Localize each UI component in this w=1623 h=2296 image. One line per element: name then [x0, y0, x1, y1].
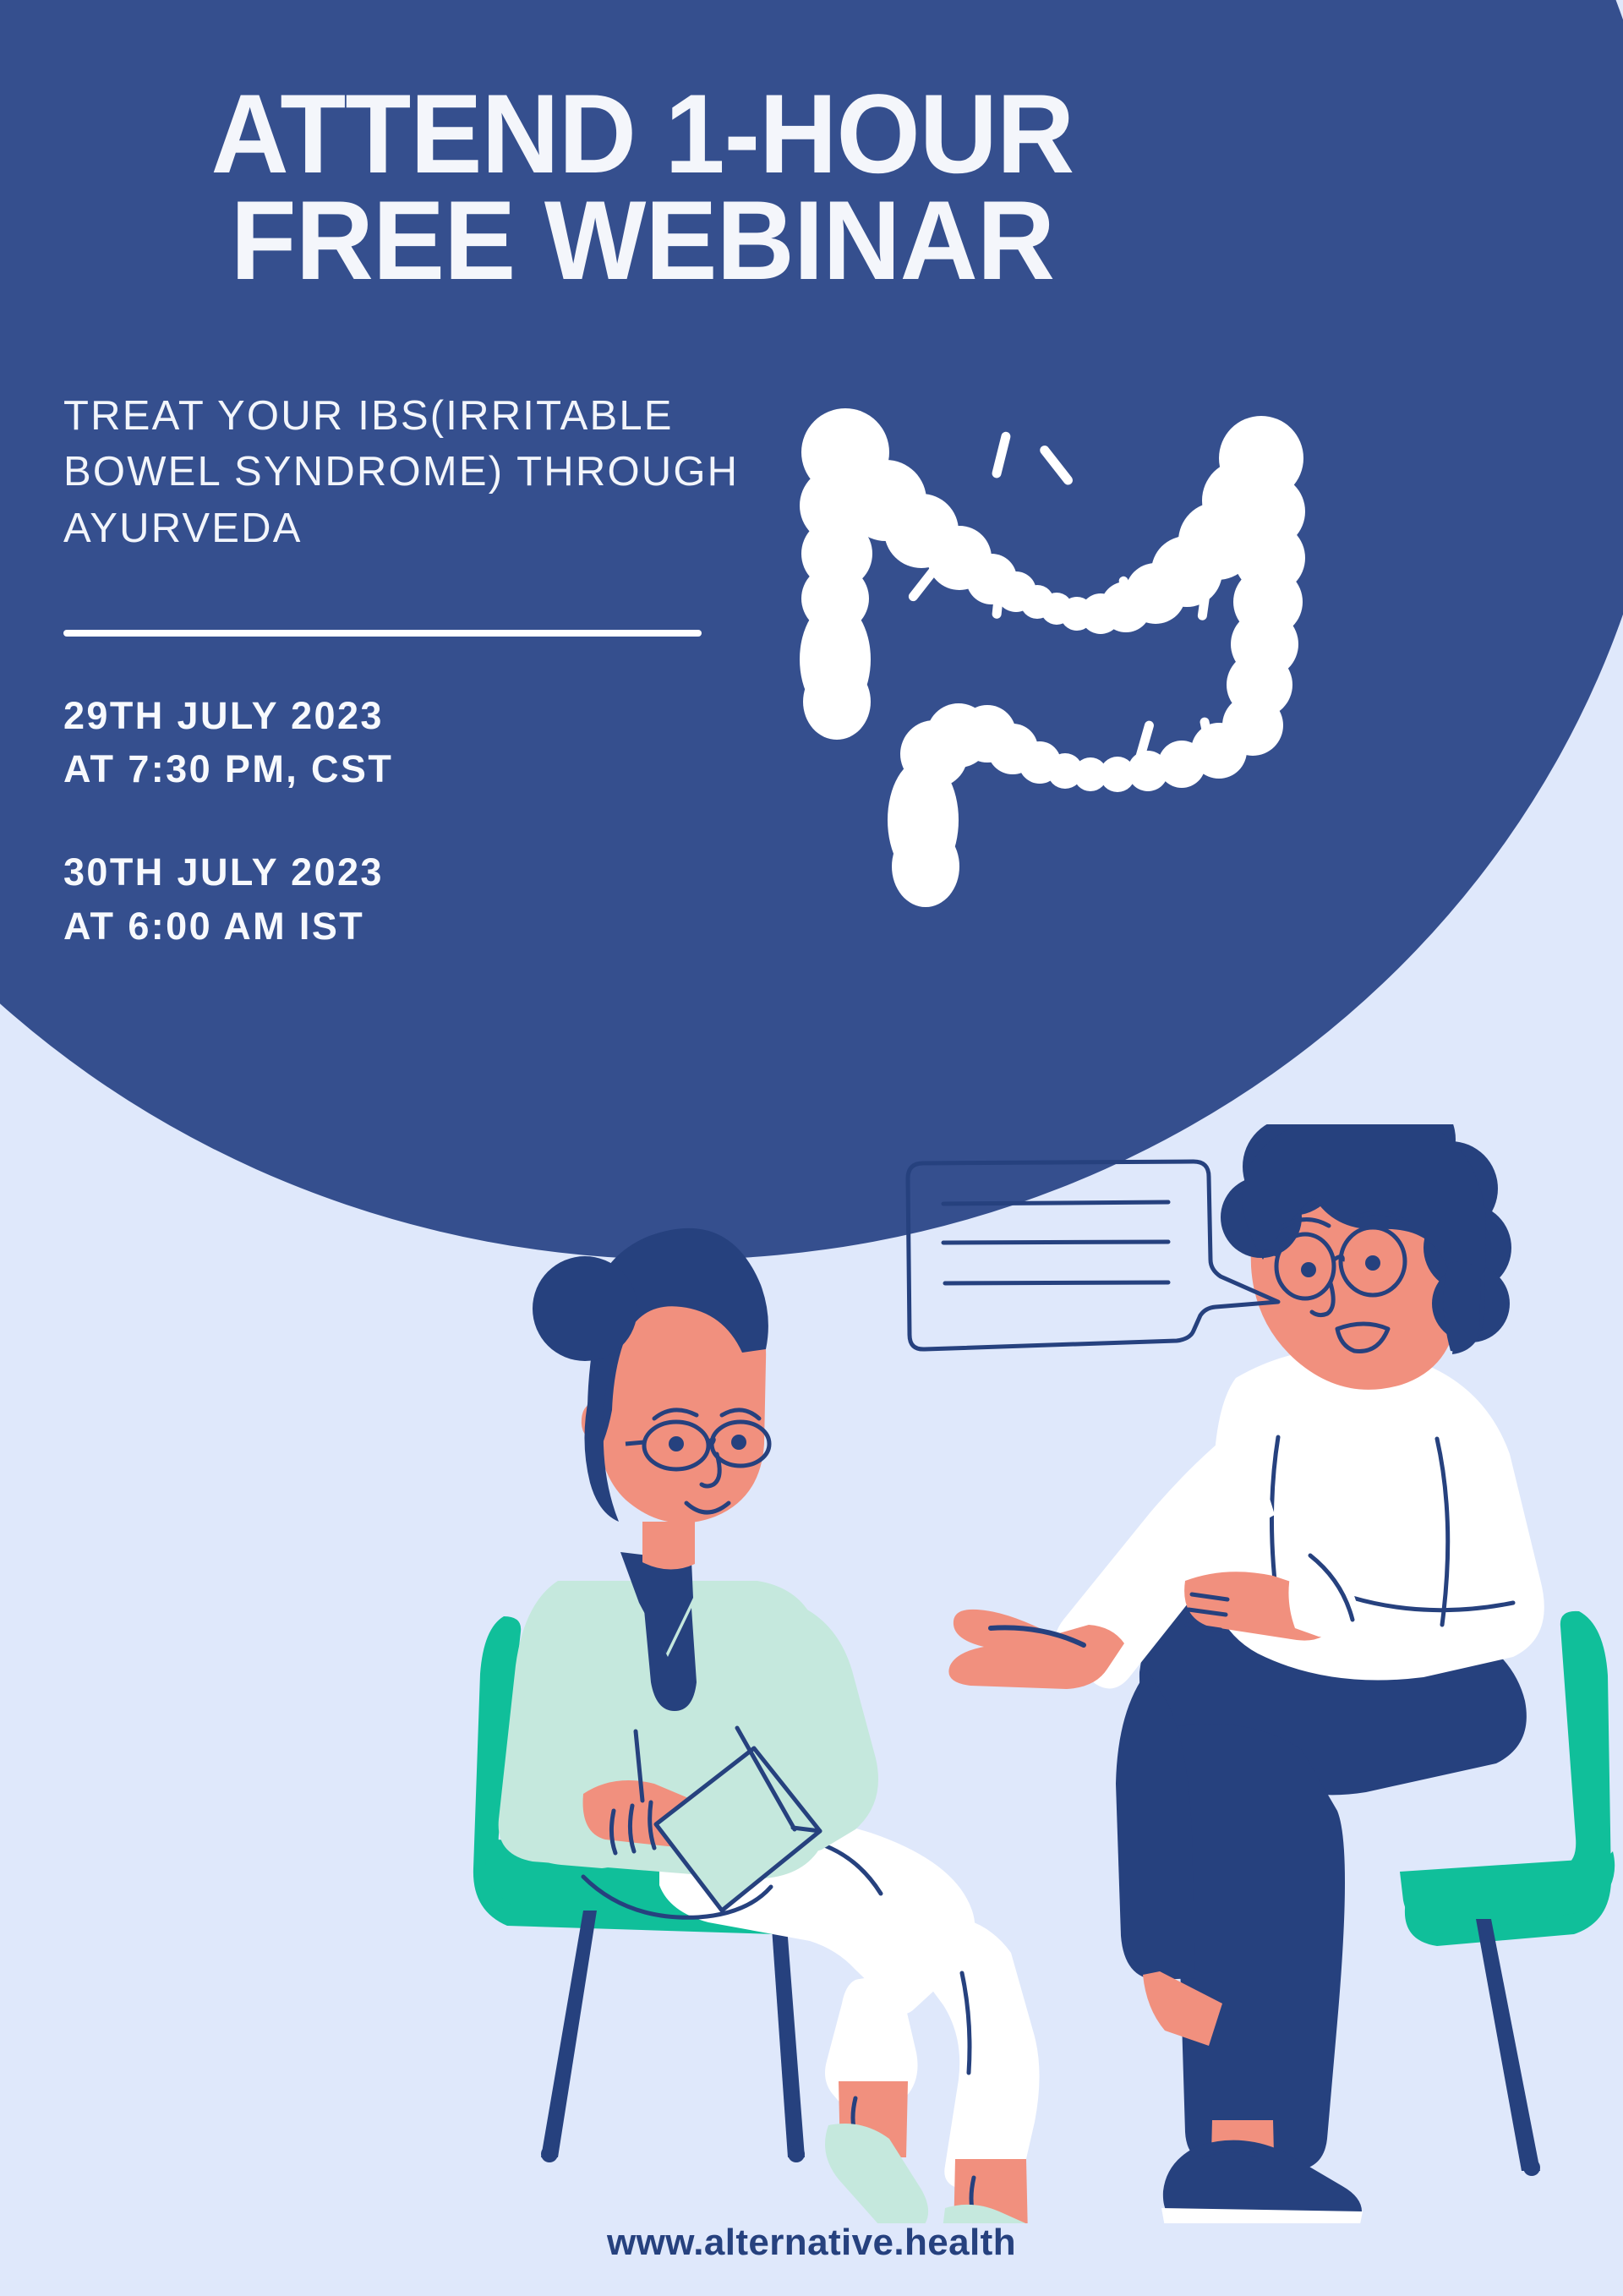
doctor-shin-right [909, 1915, 1040, 2196]
schedule-entry: 30TH JULY 2023 AT 6:00 AM IST [63, 845, 1319, 954]
patient-eye-right [1365, 1255, 1380, 1271]
title-line-2: FREE WEBINAR [231, 178, 1054, 303]
chair-foot [541, 2146, 558, 2162]
divider-rule [63, 630, 702, 637]
schedule-list: 29TH JULY 2023 AT 7:30 PM, CST 30TH JULY… [63, 637, 1319, 954]
doctor-hair-bun [533, 1256, 637, 1361]
schedule-date: 29TH JULY 2023 [63, 689, 1319, 743]
doctor-eye-left [669, 1436, 684, 1451]
doctor-eye-right [731, 1435, 746, 1450]
header-block: ATTEND 1-HOUR FREE WEBINAR TREAT YOUR IB… [0, 0, 1319, 954]
page-title: ATTEND 1-HOUR FREE WEBINAR [89, 81, 1294, 295]
bubble-text-lines [943, 1202, 1168, 1283]
consultation-scene [0, 1124, 1623, 2223]
website-url[interactable]: www.alternative.health [0, 2222, 1623, 2264]
subtitle-text: TREAT YOUR IBS(IRRITABLE BOWEL SYNDROME)… [63, 295, 790, 557]
patient-chair-leg [1476, 1919, 1540, 2171]
chair-foot [788, 2146, 805, 2162]
doctor-neck [642, 1522, 695, 1570]
doctor-shoe-left [825, 2124, 928, 2223]
schedule-time: AT 6:00 AM IST [63, 899, 1319, 954]
poster-canvas: ATTEND 1-HOUR FREE WEBINAR TREAT YOUR IB… [0, 0, 1623, 2296]
patient-chair-foot [1523, 2159, 1540, 2176]
schedule-entry: 29TH JULY 2023 AT 7:30 PM, CST [63, 689, 1319, 797]
schedule-date: 30TH JULY 2023 [63, 845, 1319, 899]
patient-eye-left [1301, 1262, 1316, 1277]
chair-leg-back [771, 1916, 805, 2157]
schedule-time: AT 7:30 PM, CST [63, 742, 1319, 796]
bubble-outline [908, 1162, 1278, 1349]
speech-bubble [896, 1158, 1285, 1378]
